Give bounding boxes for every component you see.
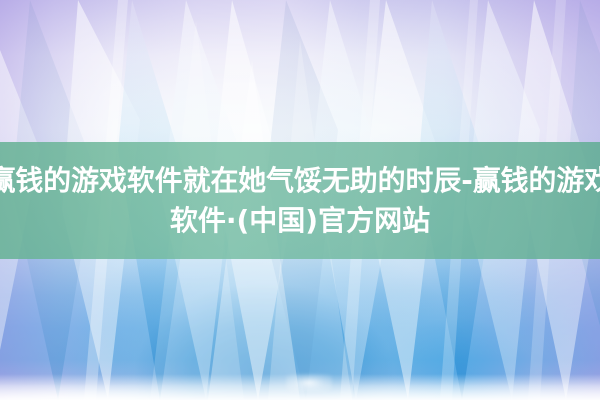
decorative-banner: 赢钱的游戏软件就在她气馁无助的时辰-赢钱的游戏 软件·(中国)官方网站 bbox=[0, 0, 600, 400]
title-band: 赢钱的游戏软件就在她气馁无助的时辰-赢钱的游戏 软件·(中国)官方网站 bbox=[0, 142, 600, 259]
banner-title-line-2: 软件·(中国)官方网站 bbox=[170, 201, 430, 241]
banner-title-line-1: 赢钱的游戏软件就在她气馁无助的时辰-赢钱的游戏 bbox=[0, 161, 600, 201]
watermark-smudge bbox=[286, 374, 332, 392]
